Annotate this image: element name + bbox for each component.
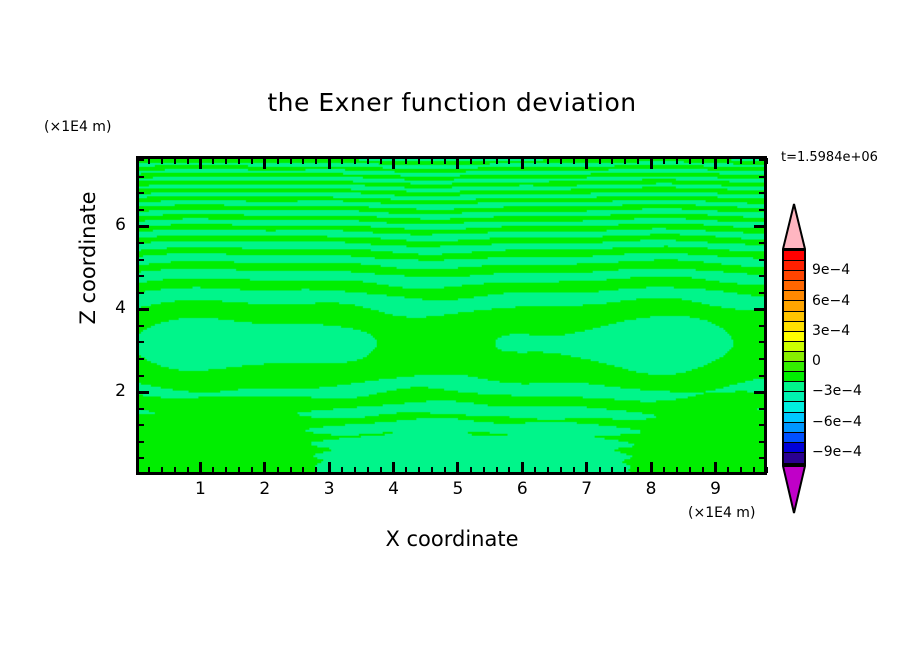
y-tick-major-right: [754, 391, 765, 394]
y-tick-major: [138, 225, 149, 228]
colorbar-band: [784, 271, 804, 281]
x-tick-minor: [740, 467, 742, 473]
x-tick-minor: [444, 467, 446, 473]
x-tick-minor-top: [277, 158, 279, 164]
x-tick-minor-top: [611, 158, 613, 164]
x-tick-minor: [547, 467, 549, 473]
y-tick-minor-right: [759, 209, 765, 211]
x-tick-major: [392, 462, 395, 473]
y-tick-minor-right: [759, 192, 765, 194]
y-tick-minor-right: [759, 375, 765, 377]
x-tick-major: [199, 462, 202, 473]
x-tick-minor: [302, 467, 304, 473]
x-tick-minor-top: [290, 158, 292, 164]
x-tick-label: 5: [438, 479, 478, 499]
x-tick-minor: [354, 467, 356, 473]
x-tick-minor-top: [302, 158, 304, 164]
colorbar-band: [784, 423, 804, 433]
x-tick-minor-top: [405, 158, 407, 164]
y-tick-major-right: [754, 225, 765, 228]
x-tick-minor: [225, 467, 227, 473]
x-tick-major-top: [521, 158, 524, 169]
y-tick-minor: [138, 292, 144, 294]
x-tick-minor: [315, 467, 317, 473]
x-tick-minor: [560, 467, 562, 473]
x-tick-minor: [637, 467, 639, 473]
x-tick-minor: [418, 467, 420, 473]
x-tick-minor-top: [238, 158, 240, 164]
x-tick-minor-top: [225, 158, 227, 164]
x-tick-minor-top: [148, 158, 150, 164]
colorbar-tick-label: −6e−4: [812, 414, 862, 430]
x-tick-major-top: [263, 158, 266, 169]
x-tick-major: [714, 462, 717, 473]
x-tick-minor-top: [431, 158, 433, 164]
x-tick-major: [263, 462, 266, 473]
x-tick-minor-top: [354, 158, 356, 164]
y-tick-minor-right: [759, 424, 765, 426]
colorbar-band: [784, 291, 804, 301]
y-tick-label: 2: [86, 381, 126, 401]
x-tick-major: [650, 462, 653, 473]
y-axis-label: Z coordinate: [76, 158, 100, 358]
colorbar-band: [784, 342, 804, 352]
colorbar-band: [784, 281, 804, 291]
x-tick-minor: [624, 467, 626, 473]
x-tick-minor-top: [315, 158, 317, 164]
x-tick-minor-top: [470, 158, 472, 164]
y-tick-minor: [138, 358, 144, 360]
y-tick-minor-right: [759, 325, 765, 327]
x-tick-minor-top: [444, 158, 446, 164]
x-tick-minor: [212, 467, 214, 473]
x-tick-minor: [702, 467, 704, 473]
colorbar-band: [784, 322, 804, 332]
x-tick-minor-top: [547, 158, 549, 164]
x-tick-minor-top: [740, 158, 742, 164]
y-tick-minor: [138, 209, 144, 211]
x-tick-minor-top: [483, 158, 485, 164]
y-tick-minor: [138, 325, 144, 327]
x-tick-major: [585, 462, 588, 473]
y-tick-minor: [138, 176, 144, 178]
x-tick-minor: [161, 467, 163, 473]
x-tick-minor-top: [689, 158, 691, 164]
x-tick-minor: [431, 467, 433, 473]
x-tick-minor: [727, 467, 729, 473]
x-tick-minor: [405, 467, 407, 473]
colorbar-tick-label: 9e−4: [812, 262, 850, 278]
x-tick-minor: [611, 467, 613, 473]
x-tick-major: [521, 462, 524, 473]
x-tick-minor-top: [174, 158, 176, 164]
colorbar-tick-label: −9e−4: [812, 444, 862, 460]
colorbar-band: [784, 402, 804, 412]
x-tick-label: 6: [502, 479, 542, 499]
colorbar: 9e−46e−43e−40−3e−4−6e−4−9e−4: [779, 203, 899, 521]
x-tick-minor: [174, 467, 176, 473]
x-tick-minor: [341, 467, 343, 473]
colorbar-tick-label: 3e−4: [812, 323, 850, 339]
y-tick-minor-right: [759, 358, 765, 360]
x-tick-label: 3: [309, 479, 349, 499]
page-title: the Exner function deviation: [0, 88, 904, 117]
x-tick-label: 1: [180, 479, 220, 499]
x-tick-major-top: [456, 158, 459, 169]
x-tick-minor-top: [676, 158, 678, 164]
x-tick-minor-top: [251, 158, 253, 164]
x-tick-major: [328, 462, 331, 473]
y-tick-minor: [138, 192, 144, 194]
x-tick-minor: [367, 467, 369, 473]
y-tick-minor: [138, 341, 144, 343]
x-tick-minor-top: [766, 158, 768, 164]
y-tick-minor: [138, 457, 144, 459]
x-tick-minor: [251, 467, 253, 473]
y-tick-major-right: [754, 308, 765, 311]
y-tick-minor: [138, 159, 144, 161]
x-tick-minor-top: [599, 158, 601, 164]
x-tick-minor-top: [663, 158, 665, 164]
colorbar-band: [784, 382, 804, 392]
y-tick-major: [138, 391, 149, 394]
x-tick-minor: [380, 467, 382, 473]
x-tick-label: 7: [567, 479, 607, 499]
x-tick-minor-top: [341, 158, 343, 164]
colorbar-band: [784, 433, 804, 443]
x-tick-minor-top: [212, 158, 214, 164]
x-tick-minor: [534, 467, 536, 473]
colorbar-over-arrow: [782, 203, 806, 250]
x-tick-minor-top: [560, 158, 562, 164]
x-tick-label: 4: [374, 479, 414, 499]
y-tick-minor-right: [759, 176, 765, 178]
x-tick-label: 9: [695, 479, 735, 499]
x-tick-minor: [470, 467, 472, 473]
colorbar-tick-label: 6e−4: [812, 293, 850, 309]
colorbar-band: [784, 261, 804, 271]
horizontal-unit-label: (×1E4 m): [688, 505, 755, 521]
y-tick-minor: [138, 424, 144, 426]
x-tick-major-top: [199, 158, 202, 169]
y-tick-minor-right: [759, 408, 765, 410]
y-tick-minor-right: [759, 275, 765, 277]
x-tick-label: 2: [245, 479, 285, 499]
colorbar-band: [784, 362, 804, 372]
x-tick-minor-top: [624, 158, 626, 164]
x-tick-minor: [573, 467, 575, 473]
x-tick-minor: [148, 467, 150, 473]
x-tick-minor-top: [534, 158, 536, 164]
x-tick-label: 8: [631, 479, 671, 499]
y-tick-minor: [138, 375, 144, 377]
x-tick-minor: [496, 467, 498, 473]
x-tick-minor-top: [380, 158, 382, 164]
x-tick-minor-top: [637, 158, 639, 164]
x-tick-major-top: [328, 158, 331, 169]
y-tick-minor-right: [759, 242, 765, 244]
x-axis-label: X coordinate: [0, 527, 904, 551]
x-tick-minor: [290, 467, 292, 473]
x-tick-major-top: [714, 158, 717, 169]
y-tick-minor: [138, 441, 144, 443]
colorbar-band: [784, 372, 804, 382]
x-tick-minor-top: [702, 158, 704, 164]
x-tick-minor: [187, 467, 189, 473]
y-tick-minor-right: [759, 441, 765, 443]
x-tick-minor-top: [727, 158, 729, 164]
x-tick-major-top: [392, 158, 395, 169]
colorbar-tick-label: 0: [812, 353, 821, 369]
x-tick-minor: [676, 467, 678, 473]
y-tick-minor-right: [759, 159, 765, 161]
x-tick-minor: [663, 467, 665, 473]
x-tick-major-top: [585, 158, 588, 169]
x-tick-minor: [238, 467, 240, 473]
x-tick-minor: [277, 467, 279, 473]
x-tick-minor: [766, 467, 768, 473]
y-tick-minor-right: [759, 259, 765, 261]
x-tick-minor: [483, 467, 485, 473]
colorbar-band: [784, 301, 804, 311]
x-tick-minor-top: [508, 158, 510, 164]
colorbar-band: [784, 453, 804, 463]
colorbar-band: [784, 251, 804, 261]
time-annotation: t=1.5984e+06: [781, 150, 878, 165]
vertical-unit-label: (×1E4 m): [44, 119, 111, 135]
x-tick-major: [456, 462, 459, 473]
colorbar-band: [784, 332, 804, 342]
colorbar-band: [784, 443, 804, 453]
x-tick-minor-top: [496, 158, 498, 164]
colorbar-under-arrow: [782, 464, 806, 514]
y-tick-minor-right: [759, 341, 765, 343]
x-tick-minor-top: [161, 158, 163, 164]
x-tick-minor-top: [573, 158, 575, 164]
x-tick-minor-top: [753, 158, 755, 164]
y-tick-minor-right: [759, 292, 765, 294]
x-tick-minor-top: [418, 158, 420, 164]
y-tick-minor: [138, 242, 144, 244]
x-tick-minor-top: [187, 158, 189, 164]
colorbar-band: [784, 352, 804, 362]
y-tick-minor-right: [759, 457, 765, 459]
x-tick-minor-top: [367, 158, 369, 164]
colorbar-band: [784, 392, 804, 402]
x-tick-minor: [689, 467, 691, 473]
x-tick-minor: [599, 467, 601, 473]
contour-plot-area: [136, 156, 767, 475]
colorbar-band: [784, 312, 804, 322]
y-tick-minor: [138, 259, 144, 261]
colorbar-tick-label: −3e−4: [812, 383, 862, 399]
y-tick-minor: [138, 408, 144, 410]
contour-field: [139, 159, 764, 472]
y-tick-major: [138, 308, 149, 311]
colorbar-band: [784, 413, 804, 423]
x-tick-minor: [753, 467, 755, 473]
y-tick-minor: [138, 275, 144, 277]
colorbar-bands: [782, 249, 806, 465]
x-tick-minor: [508, 467, 510, 473]
x-tick-major-top: [650, 158, 653, 169]
